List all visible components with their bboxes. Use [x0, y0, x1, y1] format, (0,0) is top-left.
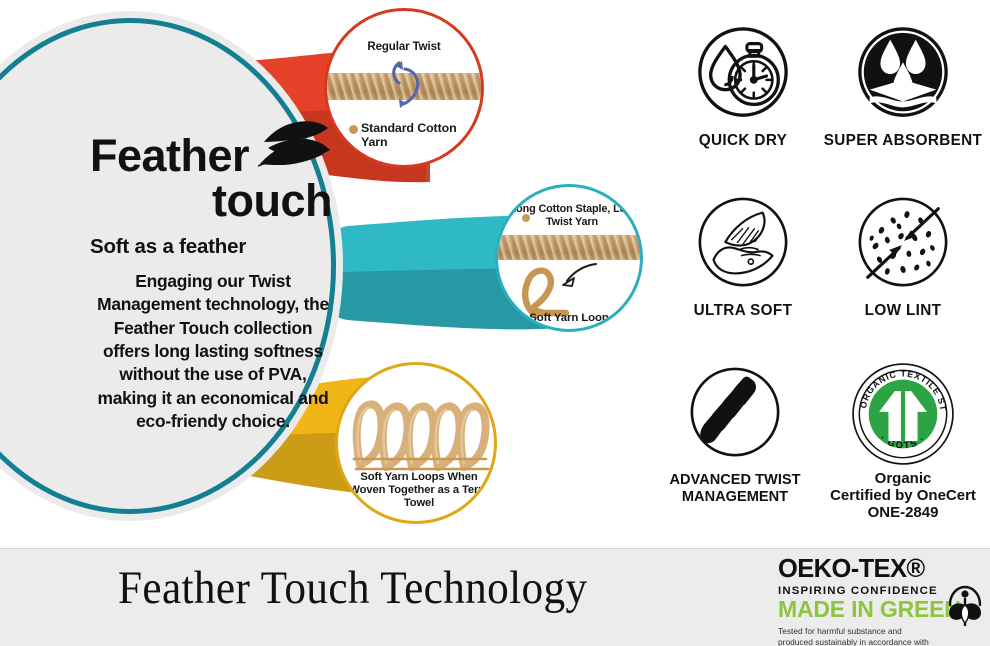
feature-super-absorbent[interactable]: SUPER ABSORBENT — [823, 25, 983, 149]
low-twist-title: Long Cotton Staple, Low Twist Yarn — [506, 203, 638, 228]
brand-tagline: Soft as a feather — [90, 235, 338, 259]
detail-circle-terry-loops: Soft Yarn Loops When Woven Together as a… — [335, 362, 497, 524]
brand-description: Engaging our Twist Management technology… — [90, 270, 338, 433]
twist-arrow-icon — [389, 59, 425, 115]
loop-arrow-icon — [560, 261, 600, 293]
low-twist-title-text: Long Cotton Staple, Low Twist Yarn — [510, 203, 635, 228]
brand-name-line1-text: Feather — [90, 130, 249, 181]
feature-low-lint[interactable]: LOW LINT — [823, 195, 983, 319]
low-twist-caption: Soft Yarn Loop — [498, 312, 640, 325]
oeko-tex-brand: OEKO-TEX® — [778, 557, 983, 583]
feature-label: QUICK DRY — [663, 132, 823, 149]
brand-name-line2: touch — [90, 178, 338, 223]
detail-circle-low-twist: Long Cotton Staple, Low Twist Yarn Soft … — [495, 184, 643, 332]
detail-circle-regular-twist: Regular Twist Standard Cotton Yarn — [324, 8, 484, 168]
feature-quick-dry[interactable]: QUICK DRY — [663, 25, 823, 149]
low-twist-yarn-strand — [495, 235, 643, 260]
feature-label: ULTRA SOFT — [663, 302, 823, 319]
footer-title: Feather Touch Technology — [118, 561, 707, 615]
regular-twist-caption: Standard Cotton Yarn — [361, 121, 481, 149]
infographic-poster: Regular Twist Standard Cotton Yarn Long … — [0, 0, 990, 646]
terry-loops-caption: Soft Yarn Loops When Woven Together as a… — [348, 471, 490, 510]
feature-label: LOW LINT — [823, 302, 983, 319]
caption-marker-dot — [349, 125, 358, 134]
brand-name-line1: Feather — [90, 134, 338, 178]
oeko-tex-fine-print-text: Tested for harmful substance and produce… — [778, 626, 929, 646]
feature-advanced-twist-management[interactable]: ADVANCED TWIST MANAGEMENT — [655, 365, 815, 505]
feature-label: ADVANCED TWIST MANAGEMENT — [655, 472, 815, 505]
feature-label: SUPER ABSORBENT — [823, 132, 983, 149]
water-drop-stopwatch-icon — [694, 25, 792, 123]
hero-content: Feather touch Soft as a feather Engaging… — [86, 18, 338, 514]
oeko-tex-badge: OEKO-TEX® INSPIRING CONFIDENCE MADE IN G… — [778, 557, 983, 646]
gots-seal-icon: GLOBAL ORGANIC TEXTILE STANDARD · GOTS · — [851, 362, 955, 466]
regular-twist-title: Regular Twist — [327, 41, 481, 54]
feature-label: Organic Certified by OneCert ONE-2849 — [823, 470, 983, 521]
oeko-tex-tree-icon — [942, 583, 988, 629]
hand-holding-feather-icon — [258, 112, 332, 168]
terry-loop-weave-illustration — [346, 389, 492, 475]
feature-grid: QUICK DRY SUPER ABSORBENT — [655, 10, 990, 540]
lint-specks-arrows-icon — [854, 195, 952, 293]
twisted-strands-icon — [686, 365, 784, 463]
drops-absorbing-fabric-icon — [854, 25, 952, 123]
terry-loops-caption-text: Soft Yarn Loops When Woven Together as a… — [349, 471, 488, 509]
footer-bar: Feather Touch Technology OEKO-TEX® INSPI… — [0, 548, 990, 646]
feature-gots-organic[interactable]: GLOBAL ORGANIC TEXTILE STANDARD · GOTS ·… — [823, 362, 983, 521]
feather-on-hand-icon — [694, 195, 792, 293]
feature-ultra-soft[interactable]: ULTRA SOFT — [663, 195, 823, 319]
oeko-tex-fine-print: Tested for harmful substance and produce… — [778, 626, 938, 646]
